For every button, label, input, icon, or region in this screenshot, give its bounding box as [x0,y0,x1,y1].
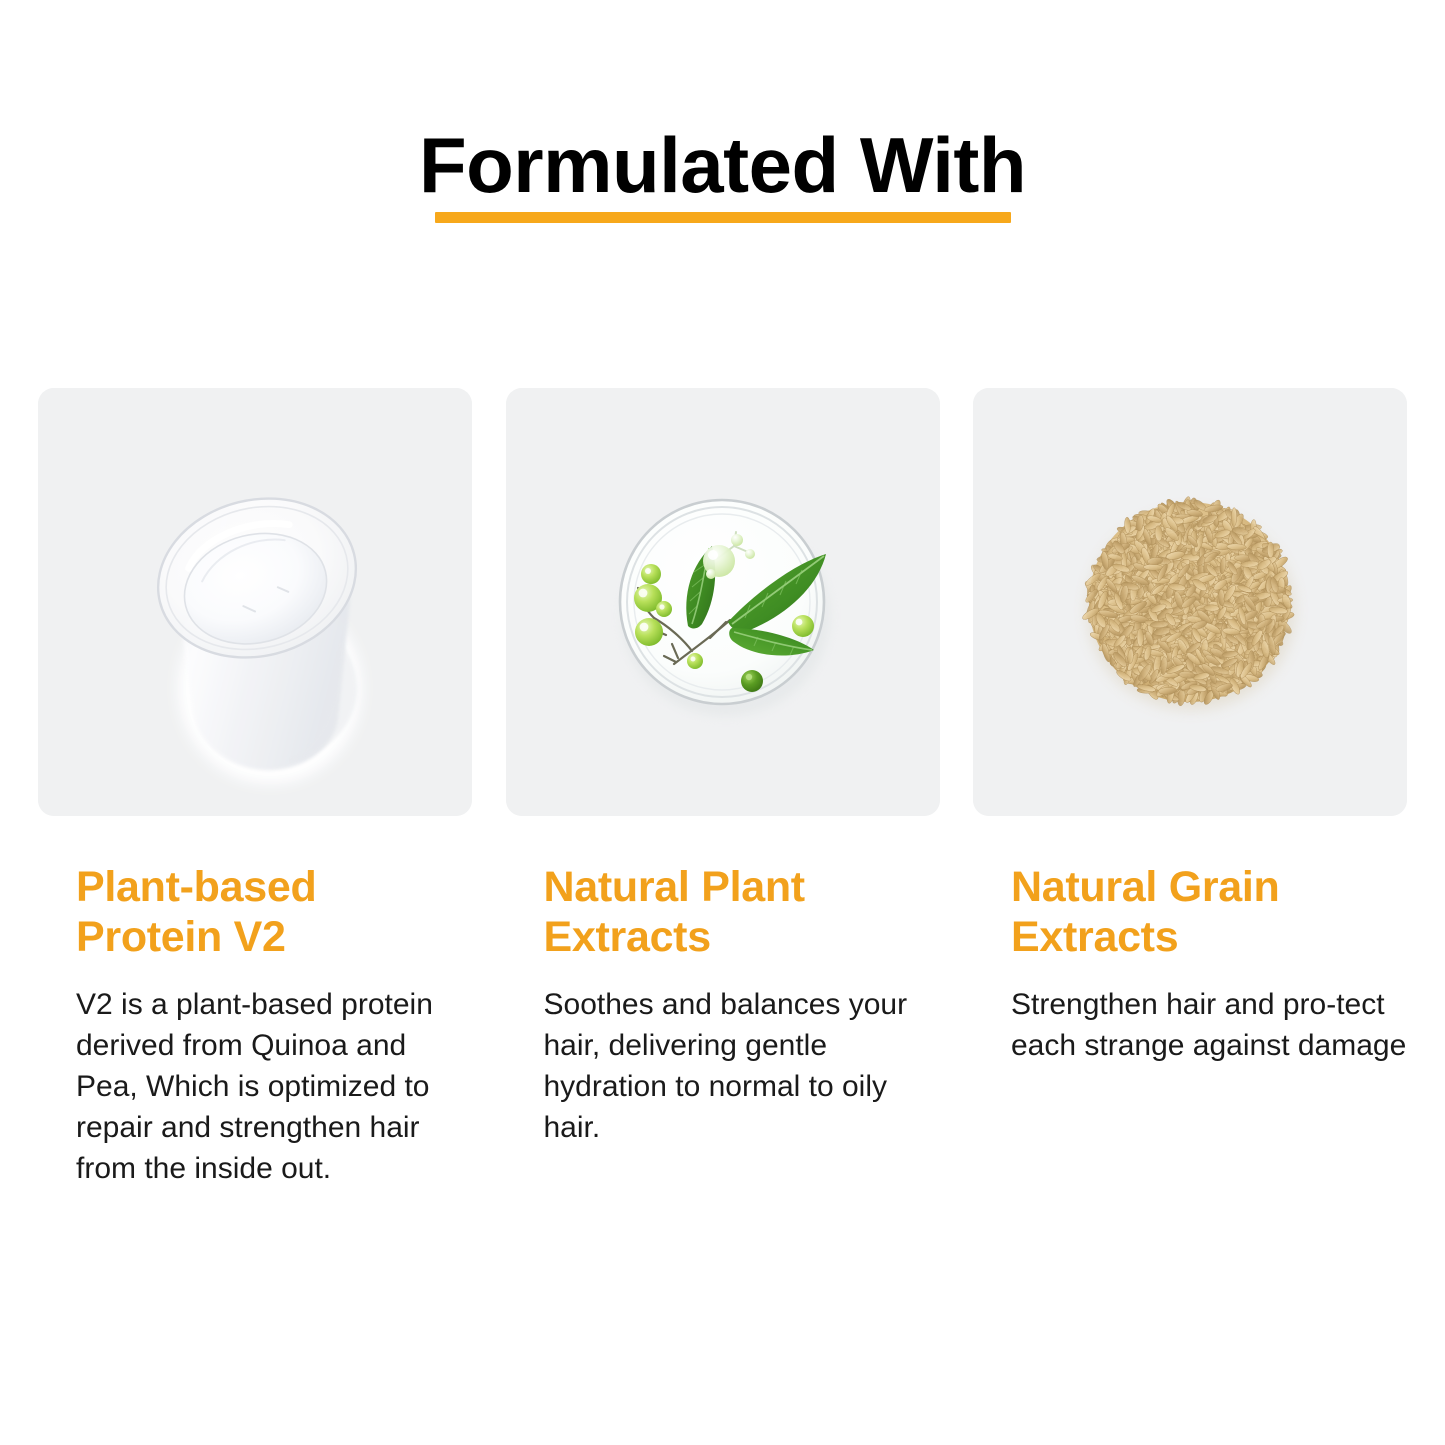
clear-glass-beaker-photo [38,388,472,816]
ingredient-text-row: Plant-based Protein V2 V2 is a plant-bas… [38,862,1407,1189]
ingredient-body-natural-grain-extracts: Strengthen hair and pro-tect each strang… [1011,984,1411,1066]
grain-seeds-pile-photo [973,388,1407,816]
ingredient-card-natural-plant-extracts[interactable] [506,388,940,816]
ingredient-heading-natural-plant-extracts: Natural Plant Extracts [544,862,902,962]
ingredient-text-column-1: Plant-based Protein V2 V2 is a plant-bas… [38,862,472,1189]
ingredient-heading-plant-based-protein: Plant-based Protein V2 [76,862,434,962]
formulated-with-page: Formulated With [0,0,1445,1445]
ingredient-cards-row [38,388,1407,816]
page-title: Formulated With [413,122,1032,212]
ingredient-card-natural-grain-extracts[interactable] [973,388,1407,816]
ingredient-heading-natural-grain-extracts: Natural Grain Extracts [1011,862,1369,962]
petri-dish-green-leaves-photo [506,388,940,816]
title-underline [435,212,1011,223]
ingredient-text-column-3: Natural Grain Extracts Strengthen hair a… [973,862,1407,1189]
ingredient-text-column-2: Natural Plant Extracts Soothes and balan… [506,862,940,1189]
ingredient-card-plant-based-protein[interactable] [38,388,472,816]
ingredient-body-plant-based-protein: V2 is a plant-based protein derived from… [76,984,476,1189]
ingredient-body-natural-plant-extracts: Soothes and balances your hair, deliveri… [544,984,944,1148]
page-title-block: Formulated With [0,122,1445,223]
